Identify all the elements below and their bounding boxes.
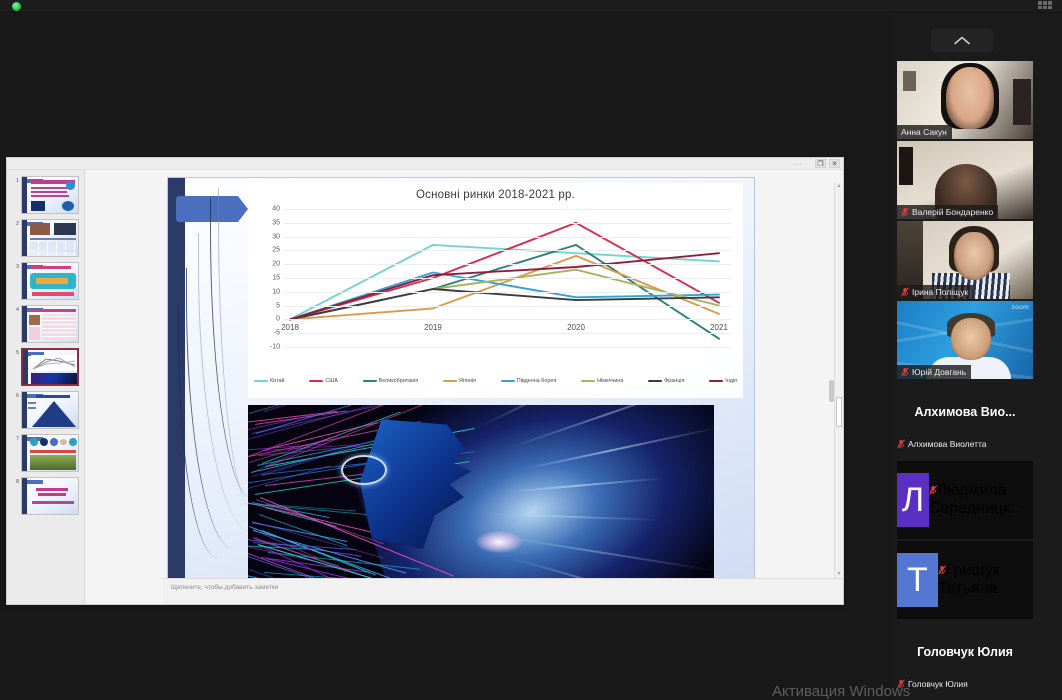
slide-canvas[interactable]: Основні ринки 2018-2021 рр. 403530252015…	[167, 177, 755, 588]
participant-name: Грищук Татьяна	[938, 562, 1000, 597]
chart-legend-label: Індія	[725, 378, 737, 384]
chart-legend-swatch	[709, 380, 723, 383]
chart-legend-item: Південна Корея	[501, 378, 557, 384]
picture-spark	[476, 531, 522, 553]
chart-object[interactable]: Основні ринки 2018-2021 рр. 403530252015…	[248, 183, 743, 398]
slide-thumbnail-number: 8	[10, 477, 19, 485]
picture-fiber-strand	[258, 514, 347, 547]
chart-x-axis-tick: 2020	[567, 323, 585, 332]
chart-y-axis-tick: 25	[272, 247, 280, 254]
chart-gridline	[284, 319, 731, 320]
chart-legend-item: Франція	[648, 378, 684, 384]
chart-x-axis-tick: 2021	[710, 323, 728, 332]
slide-thumbnail-preview[interactable]	[21, 262, 79, 300]
slide-thumbnail-preview[interactable]	[21, 176, 79, 214]
system-top-bar	[0, 0, 1062, 13]
participant-name: Головчук Юлия	[908, 679, 968, 689]
slide-thumbnail-preview[interactable]	[21, 219, 79, 257]
participant-tile[interactable]: Ірина Поліщук	[897, 221, 1033, 299]
participant-name: Анна Сакун	[901, 127, 947, 137]
chart-legend-label: Китай	[270, 378, 285, 384]
restore-button[interactable]: ❐	[815, 159, 826, 168]
chart-gridline	[284, 278, 731, 279]
chart-gridline	[284, 306, 731, 307]
overflow-menu-icon[interactable]: ···	[793, 161, 803, 168]
chart-legend-label: США	[325, 378, 337, 384]
mic-muted-icon	[901, 367, 909, 377]
chart-y-axis-tick: -10	[270, 344, 280, 351]
slide-picture-fiber-optic-face[interactable]	[248, 405, 714, 585]
slide-thumbnail-item[interactable]: 5	[10, 348, 81, 386]
slide-thumbnail-item[interactable]: 7	[10, 434, 81, 472]
participant-name-bar[interactable]: Головчук Юлия	[897, 679, 1033, 689]
avatar: Т	[897, 553, 938, 607]
windows-activation-watermark: Активация Windows	[772, 683, 910, 700]
chart-legend-swatch	[648, 380, 662, 383]
chart-legend-swatch	[443, 380, 457, 383]
slide-thumbnail-number: 1	[10, 176, 19, 184]
participant-name: Людмила Середницк...	[929, 482, 1024, 517]
chart-legend-label: Німеччина	[597, 378, 623, 384]
slide-thumbnail-number: 2	[10, 219, 19, 227]
participant-name-bar: Анна Сакун	[897, 125, 952, 139]
chart-gridline	[284, 292, 731, 293]
powerpoint-window[interactable]: ··· ❐ ✕ 12345678 Основні ринки 2018-2021…	[6, 157, 844, 605]
participant-name-bar: Людмила Середницк...	[929, 482, 1033, 518]
chart-y-axis-tick: 10	[272, 288, 280, 295]
slide-thumbnail-number: 5	[10, 348, 19, 356]
slide-thumbnail-preview[interactable]	[21, 434, 79, 472]
slide-thumbnail-preview[interactable]	[21, 305, 79, 343]
chart-y-axis-tick: 20	[272, 261, 280, 268]
recording-status-indicator	[12, 2, 21, 11]
chart-legend-item: Індія	[709, 378, 737, 384]
participant-name-bar: Юрій Довгань	[897, 365, 971, 379]
slide-thumbnail-item[interactable]: 6	[10, 391, 81, 429]
zoom-participant-strip[interactable]: Анна Сакун Валерій Бондаренко Ірина Полі…	[893, 13, 1062, 700]
close-button[interactable]: ✕	[829, 159, 840, 168]
chart-legend-item: Японія	[443, 378, 476, 384]
slide-thumbnail-number: 6	[10, 391, 19, 399]
chart-legend-swatch	[254, 380, 268, 383]
slide-thumbnail-number: 7	[10, 434, 19, 442]
slide-thumbnail-item[interactable]: 8	[10, 477, 81, 515]
chart-y-axis-tick: -5	[274, 330, 280, 337]
slide-thumbnail-rail[interactable]: 12345678	[7, 170, 85, 604]
chart-y-axis-tick: 40	[272, 206, 280, 213]
participant-name-bar: Грищук Татьяна	[938, 562, 1033, 598]
chart-gridline	[284, 333, 731, 334]
chart-y-axis-tick: 30	[272, 233, 280, 240]
slide-thumbnail-number: 3	[10, 262, 19, 270]
participant-name-bar: Ірина Поліщук	[897, 285, 973, 299]
participant-tile[interactable]: Т Грищук Татьяна	[897, 541, 1033, 619]
mic-muted-icon	[938, 565, 946, 575]
chart-legend-label: Японія	[459, 378, 476, 384]
slide-thumbnail-item[interactable]: 2	[10, 219, 81, 257]
slide-thumbnail-preview[interactable]	[21, 391, 79, 429]
desktop: ··· ❐ ✕ 12345678 Основні ринки 2018-2021…	[0, 0, 1062, 700]
chart-legend-label: Франція	[664, 378, 684, 384]
slide-pane-scrollbar[interactable]: ▲ ▼	[834, 182, 843, 578]
chart-gridline	[284, 223, 731, 224]
chart-legend-label: Південна Корея	[517, 378, 557, 384]
chart-legend-item: Німеччина	[581, 378, 623, 384]
slide-thumbnail-item[interactable]: 4	[10, 305, 81, 343]
mic-muted-icon	[929, 485, 937, 495]
mic-muted-icon	[901, 287, 909, 297]
slide-thumbnail-preview[interactable]	[21, 477, 79, 515]
chart-y-axis-tick: 5	[276, 302, 280, 309]
participant-name-bar[interactable]: Алхимова Виолетта	[897, 439, 1033, 449]
participant-name: Валерій Бондаренко	[912, 207, 993, 217]
participant-tile[interactable]: Анна Сакун	[897, 61, 1033, 139]
scroll-up-arrow[interactable]: ▲	[835, 183, 843, 189]
participant-display-name: Головчук Юлия	[897, 645, 1033, 659]
window-controls[interactable]: ❐ ✕	[815, 159, 840, 168]
mic-muted-icon	[897, 439, 905, 449]
chart-legend: КитайСШАВеликобританіяЯпоніяПівденна Кор…	[250, 373, 741, 389]
chart-gridline	[284, 237, 731, 238]
chart-gridline	[284, 264, 731, 265]
chart-x-axis-tick: 2019	[424, 323, 442, 332]
chart-legend-label: Великобританія	[379, 378, 419, 384]
pane-splitter-handle[interactable]	[829, 380, 834, 402]
chart-y-axis-tick: 35	[272, 219, 280, 226]
chart-gridline	[284, 209, 731, 210]
participant-name-bar: Валерій Бондаренко	[897, 205, 998, 219]
slide-thumbnail-number: 4	[10, 305, 19, 313]
chart-legend-swatch	[309, 380, 323, 383]
participant-name: Ірина Поліщук	[912, 287, 968, 297]
participant-name: Юрій Довгань	[912, 367, 966, 377]
chart-y-axis-tick: 15	[272, 275, 280, 282]
powerpoint-titlebar[interactable]: ··· ❐ ✕	[7, 158, 843, 170]
participant-name: Алхимова Виолетта	[908, 439, 987, 449]
chevron-up-icon	[954, 36, 970, 45]
slide-editing-pane[interactable]: Основні ринки 2018-2021 рр. 403530252015…	[85, 170, 843, 604]
chart-legend-item: США	[309, 378, 337, 384]
chart-legend-item: Китай	[254, 378, 285, 384]
slide-thumbnail-preview[interactable]	[21, 348, 79, 386]
scrollbar-thumb[interactable]	[836, 397, 842, 427]
slide-thumbnail-item[interactable]: 3	[10, 262, 81, 300]
chart-legend-item: Великобританія	[363, 378, 419, 384]
notes-placeholder[interactable]: Щелкните, чтобы добавить заметки	[163, 578, 843, 604]
participant-tile[interactable]: zoom Юрій Довгань	[897, 301, 1033, 379]
avatar: Л	[897, 473, 929, 527]
zoom-watermark: zoom	[1012, 304, 1030, 311]
collapse-video-strip-button[interactable]	[931, 29, 993, 52]
participant-tile[interactable]: Л Людмила Середницк...	[897, 461, 1033, 539]
participant-tile[interactable]: Валерій Бондаренко	[897, 141, 1033, 219]
chart-legend-swatch	[501, 380, 515, 383]
scroll-down-arrow[interactable]: ▼	[835, 571, 843, 577]
participant-display-name: Алхимова Вио...	[897, 405, 1033, 419]
chart-plot-area: 4035302520151050-5-102018201920202021	[284, 209, 731, 347]
chart-gridline	[284, 250, 731, 251]
chart-title: Основні ринки 2018-2021 рр.	[248, 189, 743, 201]
chart-series-line	[290, 256, 719, 320]
mic-muted-icon	[901, 207, 909, 217]
chart-x-axis-tick: 2018	[281, 323, 299, 332]
top-bar-right-icons[interactable]	[1038, 1, 1056, 9]
grid-view-icon[interactable]	[1038, 1, 1052, 9]
slide-thumbnail-item[interactable]: 1	[10, 176, 81, 214]
chart-y-axis-tick: 0	[276, 316, 280, 323]
chart-legend-swatch	[581, 380, 595, 383]
chart-legend-swatch	[363, 380, 377, 383]
chart-gridline	[284, 347, 731, 348]
